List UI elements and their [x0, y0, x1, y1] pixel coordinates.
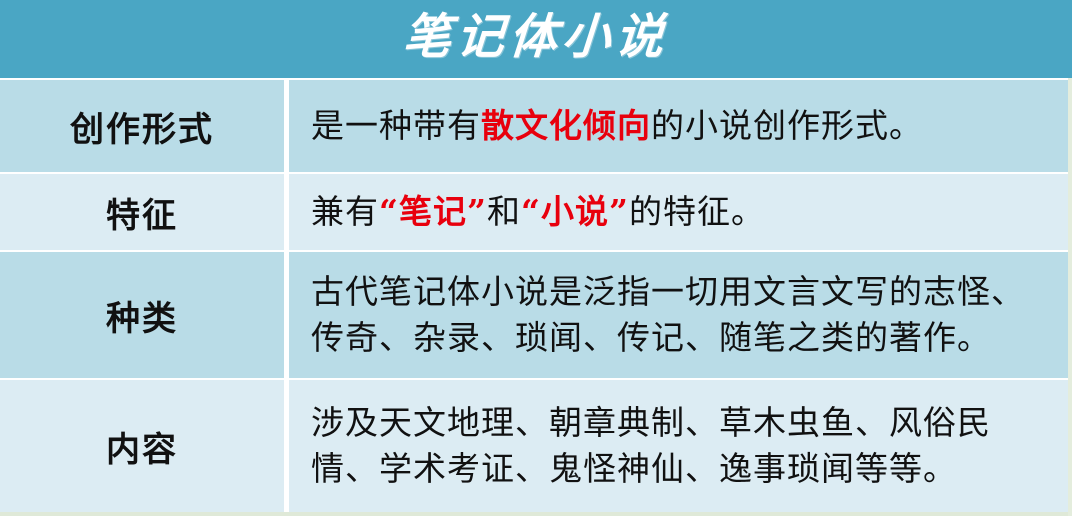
table-row: 创作形式 是一种带有散文化倾向的小说创作形式。: [0, 80, 1072, 172]
content-line: 是一种带有散文化倾向的小说创作形式。: [311, 103, 1058, 149]
table-row: 种类 古代笔记体小说是泛指一切用文言文写的志怪、传奇、杂录、琐闻、传记、随笔之类…: [0, 252, 1072, 378]
row-content: 古代笔记体小说是泛指一切用文言文写的志怪、传奇、杂录、琐闻、传记、随笔之类的著作…: [289, 252, 1072, 378]
row-content: 涉及天文地理、朝章典制、草木虫鱼、风俗民情、学术考证、鬼怪神仙、逸事琐闻等等。: [289, 380, 1072, 512]
row-label: 创作形式: [0, 80, 284, 172]
content-text: 和: [487, 192, 521, 231]
content-text: 传奇、杂录、琐闻、传记、随笔之类的著作。: [311, 318, 991, 357]
table-bottom-edge: [0, 512, 1072, 516]
row-content: 是一种带有散文化倾向的小说创作形式。: [289, 80, 1072, 172]
page-title: 笔记体小说: [402, 13, 671, 65]
content-text: 的小说创作形式。: [651, 106, 923, 145]
content-text: 是一种带有: [311, 106, 481, 145]
highlighted-term: 散文化倾向: [481, 106, 651, 145]
content-text: 古代笔记体小说是泛指一切用文言文写的志怪、: [311, 272, 1025, 311]
table-row: 内容 涉及天文地理、朝章典制、草木虫鱼、风俗民情、学术考证、鬼怪神仙、逸事琐闻等…: [0, 380, 1072, 512]
table-row: 特征 兼有“笔记”和“小说”的特征。: [0, 174, 1072, 250]
content-line: 传奇、杂录、琐闻、传记、随笔之类的著作。: [311, 315, 1058, 361]
content-text: 兼有: [311, 192, 379, 231]
table-right-edge: [1068, 78, 1072, 516]
table-title-band: 笔记体小说: [0, 0, 1072, 78]
content-line: 兼有“笔记”和“小说”的特征。: [311, 189, 1058, 235]
notebook-fiction-table: 笔记体小说 创作形式 是一种带有散文化倾向的小说创作形式。 特征 兼有“笔记”和…: [0, 0, 1072, 516]
content-text: 情、学术考证、鬼怪神仙、逸事琐闻等等。: [311, 449, 957, 488]
content-line: 情、学术考证、鬼怪神仙、逸事琐闻等等。: [311, 446, 1058, 492]
highlighted-term: “笔记”: [379, 192, 487, 231]
content-text: 的特征。: [629, 192, 765, 231]
highlighted-term: “小说”: [521, 192, 629, 231]
content-text: 涉及天文地理、朝章典制、草木虫鱼、风俗民: [311, 403, 991, 442]
row-content: 兼有“笔记”和“小说”的特征。: [289, 174, 1072, 250]
row-label: 种类: [0, 252, 284, 378]
content-line: 涉及天文地理、朝章典制、草木虫鱼、风俗民: [311, 400, 1058, 446]
content-line: 古代笔记体小说是泛指一切用文言文写的志怪、: [311, 269, 1058, 315]
row-label: 特征: [0, 174, 284, 250]
row-label: 内容: [0, 380, 284, 512]
